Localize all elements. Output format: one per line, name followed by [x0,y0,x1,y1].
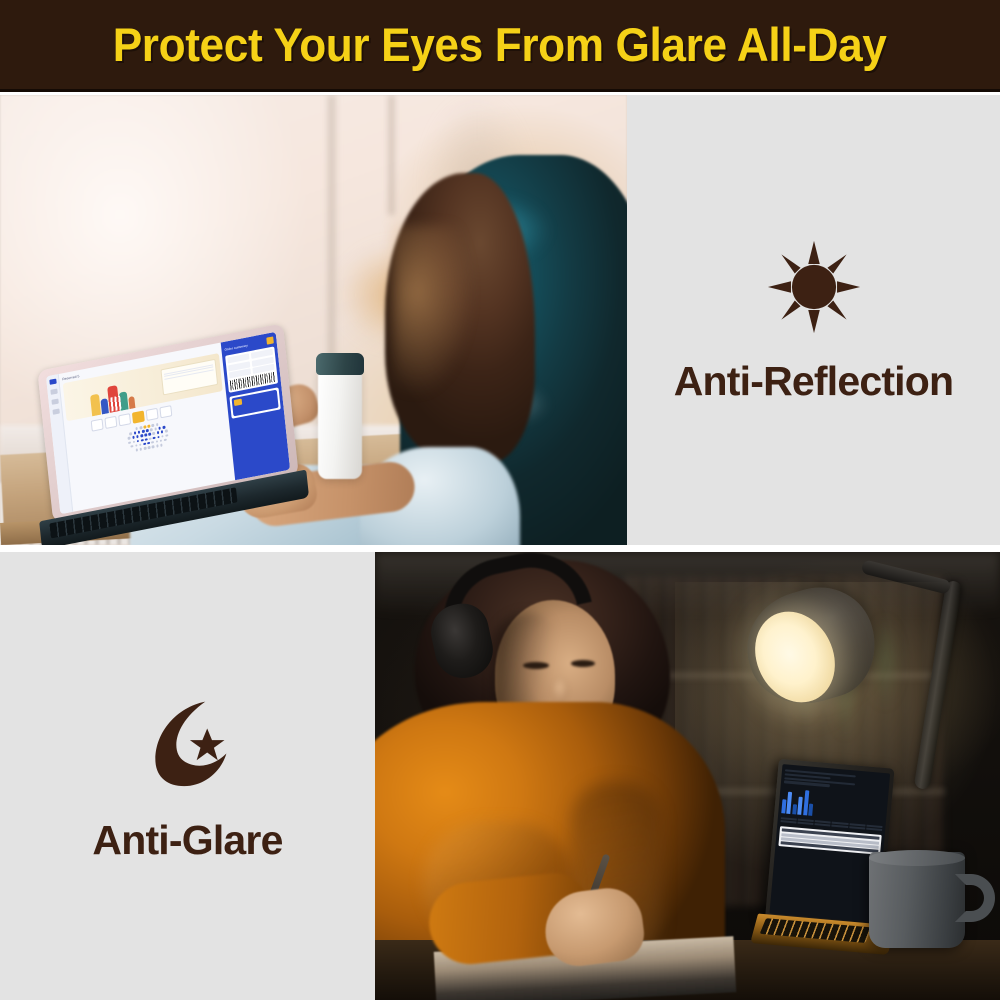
payment-card-panel [229,387,280,419]
person-figure [128,396,135,409]
app-badge-icon [266,336,274,344]
person-eye-left [523,662,549,669]
chart-bar [808,803,813,815]
feature-row-anti-reflection: Reserved 5 [0,95,1000,545]
chart-bar [781,799,786,813]
header-banner: Protect Your Eyes From Glare All-Day [0,0,1000,92]
tumbler-lid [316,353,364,375]
hair-sunlight-highlight [392,225,472,395]
chart-bar [797,796,803,814]
date-chip-selected [132,410,145,423]
rail-logo-icon [49,379,56,385]
person-nose [553,678,569,702]
app-main-area: Reserved 5 [59,342,235,511]
sun-icon [766,239,862,335]
feature-label-anti-glare: Anti-Glare [92,820,282,861]
feature-anti-reflection: Anti-Reflection [627,95,1000,545]
feature-anti-glare: Anti-Glare [0,552,375,1000]
coffee-mug-rim [869,850,965,866]
ticket-card [225,346,278,392]
chart-bar [792,804,797,814]
date-chip [91,418,104,431]
window-frame-bar [388,95,395,215]
promo-card [160,359,218,396]
laptop-keyboard-backlit [760,918,872,943]
product-feature-panel: Protect Your Eyes From Glare All-Day [0,0,1000,1000]
daytime-window-desk-photo: Reserved 5 [0,95,627,545]
feature-label-anti-reflection: Anti-Reflection [674,361,954,402]
rail-item-icon [50,389,57,395]
nighttime-desk-lamp-photo [375,552,1000,1000]
dashboard-summary-card [778,826,881,855]
feature-row-anti-glare: Anti-Glare [0,552,1000,1000]
person-figure [90,394,101,417]
person-eye-right [571,660,595,667]
coffee-mug [869,852,965,948]
moon-star-icon [140,694,236,790]
date-chip [118,413,131,426]
credit-card [232,390,279,417]
travel-tumbler [318,367,362,479]
rail-item-icon [51,399,58,405]
dashboard-bar-chart [781,787,885,822]
card-chip-icon [234,399,242,407]
date-chip [146,408,159,421]
popcorn-bucket-icon [108,396,121,412]
date-chip [159,405,172,418]
order-summary-title: Order summary [224,343,248,352]
date-chip [104,416,117,429]
page-title: Protect Your Eyes From Glare All-Day [113,21,887,72]
rail-item-icon [52,409,59,415]
